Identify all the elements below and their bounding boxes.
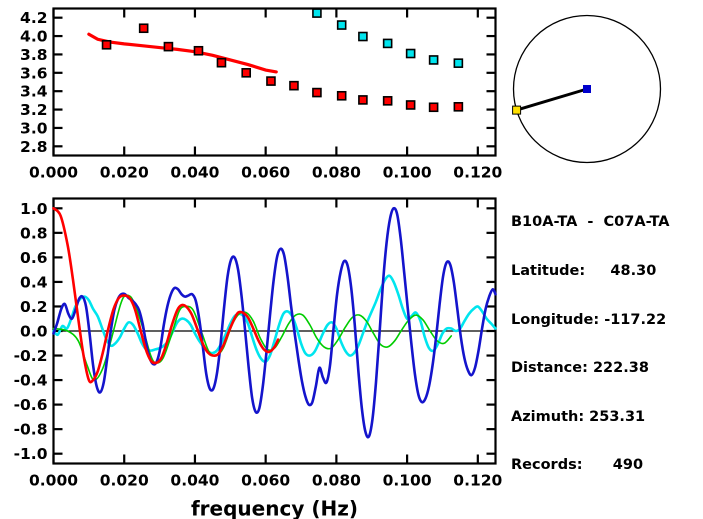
- data-point: [359, 96, 367, 104]
- x-tick-label: 0.060: [241, 164, 290, 182]
- y-tick-label: 0.8: [20, 224, 47, 242]
- azimuth-diagram-svg: [505, 4, 703, 176]
- x-tick-label: 0.000: [29, 472, 78, 490]
- x-tick-label: 0.020: [100, 164, 149, 182]
- x-tick-label: 0.040: [170, 164, 219, 182]
- data-point: [407, 50, 415, 58]
- azimuth-diagram-panel: [505, 4, 703, 176]
- y-tick-label: -0.6: [14, 396, 48, 414]
- data-point: [103, 41, 111, 49]
- azimuth-row: Azimuth: 253.31: [511, 409, 703, 425]
- y-tick-label: 3.0: [20, 119, 48, 137]
- dispersion-plot-svg: 2.83.03.23.43.63.84.04.20.0000.0200.0400…: [0, 0, 505, 190]
- station-pair-info: B10A-TA - C07A-TA Latitude: 48.30 Longit…: [511, 182, 703, 490]
- station-pair-title: B10A-TA - C07A-TA: [511, 214, 703, 230]
- y-tick-label: 3.8: [20, 46, 47, 64]
- y-tick-label: -0.8: [14, 421, 48, 439]
- y-tick-label: 4.2: [20, 9, 47, 27]
- x-tick-label: 0.100: [383, 472, 432, 490]
- data-point: [194, 47, 202, 55]
- data-point: [290, 82, 298, 90]
- y-tick-label: 0.6: [20, 249, 47, 267]
- data-point: [384, 39, 392, 47]
- x-tick-label: 0.040: [170, 472, 219, 490]
- x-tick-label: 0.080: [312, 164, 361, 182]
- data-point: [313, 9, 321, 17]
- data-point: [454, 59, 462, 67]
- data-point: [430, 103, 438, 111]
- cross-correlation-plot-svg: -1.0-0.8-0.6-0.4-0.20.00.20.40.60.81.00.…: [0, 190, 505, 519]
- center-station-marker: [583, 85, 591, 93]
- records-row: Records: 490: [511, 457, 703, 473]
- y-tick-label: 3.4: [20, 83, 48, 101]
- x-tick-label: 0.120: [453, 472, 502, 490]
- x-tick-label: 0.080: [312, 472, 361, 490]
- data-point: [359, 33, 367, 41]
- y-tick-label: 0.4: [20, 273, 48, 291]
- distance-row: Distance: 222.38: [511, 360, 703, 376]
- y-tick-label: 3.2: [20, 101, 47, 119]
- y-tick-label: 1.0: [20, 200, 48, 218]
- y-tick-label: -1.0: [14, 445, 48, 463]
- y-tick-label: 0.2: [20, 298, 47, 316]
- y-tick-label: -0.4: [14, 372, 48, 390]
- y-tick-label: 3.6: [20, 64, 47, 82]
- y-tick-label: 2.8: [20, 138, 47, 156]
- longitude-row: Longitude: -117.22: [511, 312, 703, 328]
- dispersion-plot-panel: 2.83.03.23.43.63.84.04.20.0000.0200.0400…: [0, 0, 505, 190]
- data-point: [164, 43, 172, 51]
- data-point: [338, 21, 346, 29]
- data-point: [430, 56, 438, 64]
- data-point: [313, 89, 321, 97]
- data-point: [267, 77, 275, 85]
- x-tick-label: 0.060: [241, 472, 290, 490]
- x-axis-title: frequency (Hz): [191, 497, 358, 519]
- y-tick-label: -0.2: [14, 347, 48, 365]
- data-point: [454, 103, 462, 111]
- data-point: [338, 92, 346, 100]
- data-point: [242, 69, 250, 77]
- latitude-row: Latitude: 48.30: [511, 263, 703, 279]
- y-tick-label: 0.0: [20, 323, 48, 341]
- x-tick-label: 0.120: [453, 164, 502, 182]
- data-point: [217, 59, 225, 67]
- x-tick-label: 0.020: [100, 472, 149, 490]
- data-point: [384, 97, 392, 105]
- data-point: [407, 101, 415, 109]
- data-point: [140, 24, 148, 32]
- y-tick-label: 4.0: [20, 28, 48, 46]
- cross-correlation-plot-panel: -1.0-0.8-0.6-0.4-0.20.00.20.40.60.81.00.…: [0, 190, 505, 519]
- x-tick-label: 0.000: [29, 164, 78, 182]
- paired-station-marker: [513, 106, 521, 114]
- x-tick-label: 0.100: [383, 164, 432, 182]
